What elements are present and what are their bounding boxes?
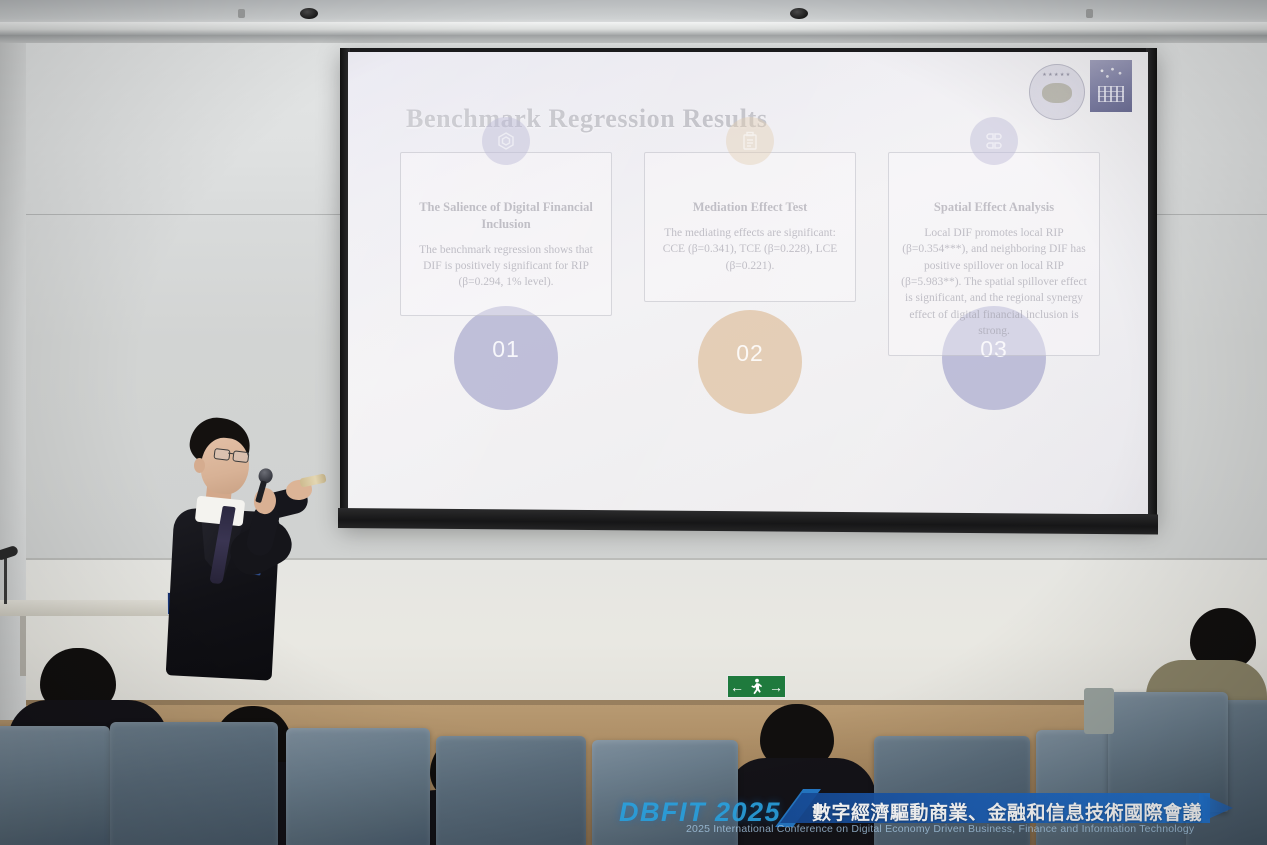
floor-edge-strip xyxy=(0,700,1267,705)
card-number-badge: 01 xyxy=(454,306,558,410)
microphone-stand xyxy=(4,552,7,604)
presentation-slide: Benchmark Regression Results ★★★★★ 01 xyxy=(348,52,1148,514)
ceiling-mount-screw xyxy=(1086,9,1093,18)
card-body-text: The benchmark regression shows that DIF … xyxy=(413,242,599,291)
card-body-text: Local DIF promotes local RIP (β=0.354***… xyxy=(901,225,1087,339)
institute-emblem-logo xyxy=(1090,60,1132,112)
globe-icon xyxy=(1042,83,1072,103)
card-number-badge: 02 xyxy=(698,310,802,414)
lens-left xyxy=(213,448,230,461)
target-hexagon-icon xyxy=(482,117,530,165)
presenter-ear xyxy=(194,458,205,473)
seat-armrest xyxy=(1084,688,1114,734)
slide-card: 03 Spatial Effect Analysis Local DIF pro… xyxy=(888,152,1100,356)
card-box: Mediation Effect Test The mediating effe… xyxy=(644,152,856,302)
lens-right xyxy=(232,450,249,463)
card-heading: The Salience of Digital Financial Inclus… xyxy=(413,199,599,233)
card-heading: Mediation Effect Test xyxy=(657,199,843,216)
running-person-icon xyxy=(750,678,763,695)
microphone-body xyxy=(255,480,267,503)
slide-card: 01 The Salience of Digital Financial Inc… xyxy=(400,152,612,356)
slide-card: 02 Mediation Effect Test The mediating e… xyxy=(644,152,856,356)
auditorium-seat xyxy=(0,726,110,845)
building-grid-icon xyxy=(1098,86,1124,102)
presenter-figure xyxy=(168,418,343,678)
emergency-exit-sign: ← → xyxy=(727,675,786,698)
ceiling-speaker-icon xyxy=(300,8,318,19)
screenshot-root: Benchmark Regression Results ★★★★★ 01 xyxy=(0,0,1267,845)
desk-leg xyxy=(20,616,26,676)
auditorium-seat xyxy=(286,728,430,845)
card-box: Spatial Effect Analysis Local DIF promot… xyxy=(888,152,1100,356)
banner-title-chinese: 數字經濟驅動商業、金融和信息技術國際會議 xyxy=(812,798,1202,825)
card-heading: Spatial Effect Analysis xyxy=(901,199,1087,216)
banner-title-english: 2025 International Conference on Digital… xyxy=(686,823,1194,835)
ceiling-light-rail xyxy=(0,22,1267,35)
university-seal-logo: ★★★★★ xyxy=(1029,64,1085,120)
ceiling-speaker-icon xyxy=(790,8,808,19)
auditorium-seat xyxy=(110,722,278,845)
side-desk xyxy=(0,600,180,616)
auditorium-seat xyxy=(436,736,586,845)
seal-ring-text: ★★★★★ xyxy=(1030,72,1084,78)
exit-left-arrow-icon: ← xyxy=(730,680,744,694)
document-report-icon xyxy=(726,117,774,165)
exit-right-arrow-icon: → xyxy=(769,680,783,694)
four-petal-grid-icon xyxy=(970,117,1018,165)
slide-card-row: 01 The Salience of Digital Financial Inc… xyxy=(400,152,1100,356)
card-body-text: The mediating effects are significant: C… xyxy=(657,225,843,274)
ceiling-mount-screw xyxy=(238,9,245,18)
card-box: The Salience of Digital Financial Inclus… xyxy=(400,152,612,316)
presentation-clicker xyxy=(299,473,326,487)
slide-title: Benchmark Regression Results xyxy=(406,104,768,134)
stars-icon xyxy=(1096,66,1126,82)
ceiling-rail-shadow xyxy=(0,35,1267,43)
